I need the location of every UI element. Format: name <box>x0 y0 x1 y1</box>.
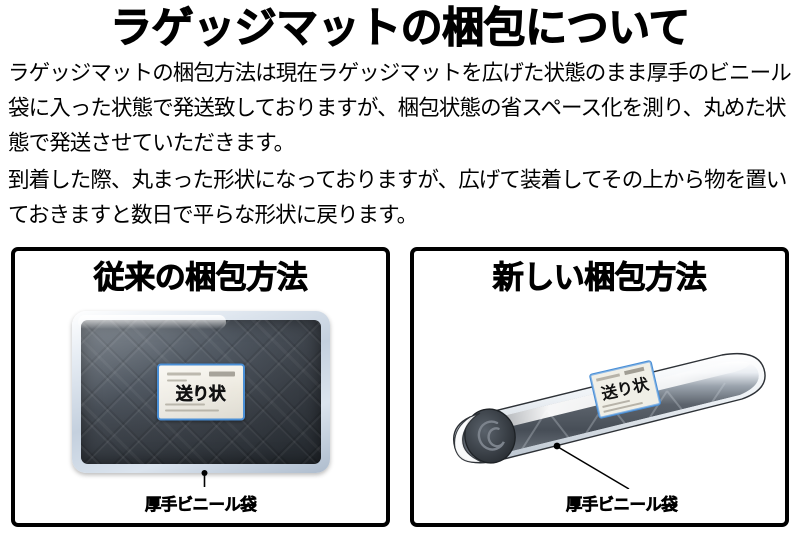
panel-old-method: 従来の梱包方法 送り状 <box>11 247 390 527</box>
panel-new-method: 新しい梱包方法 <box>410 247 789 527</box>
page-title: ラゲッジマットの梱包について <box>0 2 800 54</box>
panel-new-method-title: 新しい梱包方法 <box>414 259 785 297</box>
leader-line-old <box>15 297 390 489</box>
panel-new-method-stage: 送り状 <box>414 297 785 489</box>
leader-line-new <box>414 297 789 489</box>
panel-old-method-title: 従来の梱包方法 <box>15 259 386 297</box>
annotation-old-method: 厚手ビニール袋 <box>15 491 386 515</box>
body-copy: ラゲッジマットの梱包方法は現在ラゲッジマットを広げた状態のまま厚手のビニール袋に… <box>0 56 800 233</box>
panel-old-method-stage: 送り状 <box>15 297 386 489</box>
annotation-new-method: 厚手ビニール袋 <box>436 491 789 515</box>
comparison-panels: 従来の梱包方法 送り状 <box>0 247 800 527</box>
paragraph-2: 到着した際、丸まった形状になっておりますが、広げて装着してその上から物を置いてお… <box>8 163 794 233</box>
paragraph-1: ラゲッジマットの梱包方法は現在ラゲッジマットを広げた状態のまま厚手のビニール袋に… <box>8 56 794 161</box>
